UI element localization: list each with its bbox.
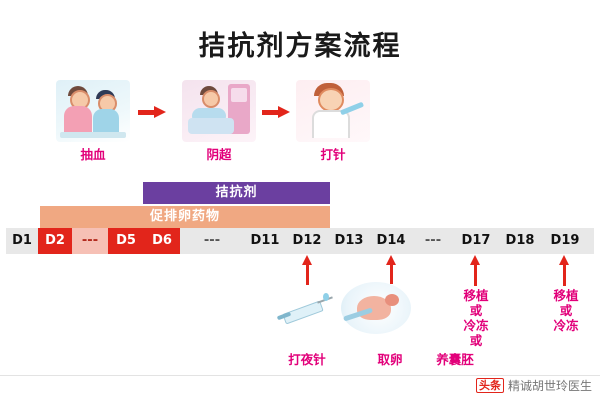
ovum-pickup-illustration bbox=[341, 282, 411, 334]
ultrasound-screen-icon bbox=[231, 88, 247, 102]
day-cell-gap-3: --- bbox=[412, 228, 454, 254]
day-cell-d1[interactable]: D1 bbox=[6, 228, 38, 254]
step-label-2: 阴超 bbox=[182, 144, 256, 163]
callout-arrow-d19 bbox=[563, 264, 566, 286]
day-cell-d12[interactable]: D12 bbox=[286, 228, 328, 254]
process-illustration-row: 抽血 阴超 打针 bbox=[30, 80, 330, 170]
step-label-3: 打针 bbox=[296, 144, 370, 163]
callout-label-blastocyst: 养囊胚 bbox=[424, 352, 486, 367]
liquid-drop-icon bbox=[323, 293, 329, 301]
ovary-icon bbox=[385, 294, 399, 306]
day-cell-d11[interactable]: D11 bbox=[244, 228, 286, 254]
callout-arrow-d17 bbox=[474, 264, 477, 286]
ultrasound-illustration bbox=[182, 80, 256, 142]
platform-logo: 头条 bbox=[476, 378, 504, 393]
day-cell-gap-2: --- bbox=[180, 228, 244, 254]
desk-icon bbox=[60, 132, 126, 138]
antagonist-drug-bar: 拮抗剂 bbox=[143, 182, 330, 204]
exam-bed-icon bbox=[188, 118, 234, 134]
blood-draw-illustration bbox=[56, 80, 130, 142]
arrow-right-icon-2 bbox=[262, 108, 290, 117]
watermark-author: 精诚胡世玲医生 bbox=[508, 377, 592, 394]
callout-arrow-retrieval bbox=[390, 264, 393, 284]
day-cell-d5[interactable]: D5 bbox=[108, 228, 144, 254]
nurse-head-icon bbox=[318, 88, 344, 112]
day-cell-d19[interactable]: D19 bbox=[542, 228, 588, 254]
callout-label-trigger: 打夜针 bbox=[276, 352, 338, 367]
day-cell-d14[interactable]: D14 bbox=[370, 228, 412, 254]
arrow-right-icon-1 bbox=[138, 108, 166, 117]
stimulation-drug-bar: 促排卵药物 bbox=[40, 206, 330, 228]
divider bbox=[0, 375, 600, 376]
day-cell-d2[interactable]: D2 bbox=[38, 228, 72, 254]
day-cell-d18[interactable]: D18 bbox=[498, 228, 542, 254]
day-cell-gap-1: --- bbox=[72, 228, 108, 254]
callout-label-transfer-d19: 移植 或 冷冻 bbox=[538, 288, 594, 333]
callout-label-retrieval: 取卵 bbox=[362, 352, 418, 367]
callout-label-transfer-d17: 移植 或 冷冻 或 bbox=[448, 288, 504, 348]
day-cell-d17[interactable]: D17 bbox=[454, 228, 498, 254]
day-cell-d13[interactable]: D13 bbox=[328, 228, 370, 254]
ultrasound-patient-head-icon bbox=[202, 90, 220, 108]
injection-illustration bbox=[296, 80, 370, 142]
day-cell-d6[interactable]: D6 bbox=[144, 228, 180, 254]
syringe-icon bbox=[340, 102, 364, 116]
diagram-root: 拮抗剂方案流程 抽血 阴超 bbox=[0, 0, 600, 400]
step-label-1: 抽血 bbox=[56, 144, 130, 163]
page-title: 拮抗剂方案流程 bbox=[0, 24, 600, 63]
watermark: 头条 精诚胡世玲医生 bbox=[476, 377, 592, 394]
trigger-syringe-illustration bbox=[277, 285, 337, 333]
